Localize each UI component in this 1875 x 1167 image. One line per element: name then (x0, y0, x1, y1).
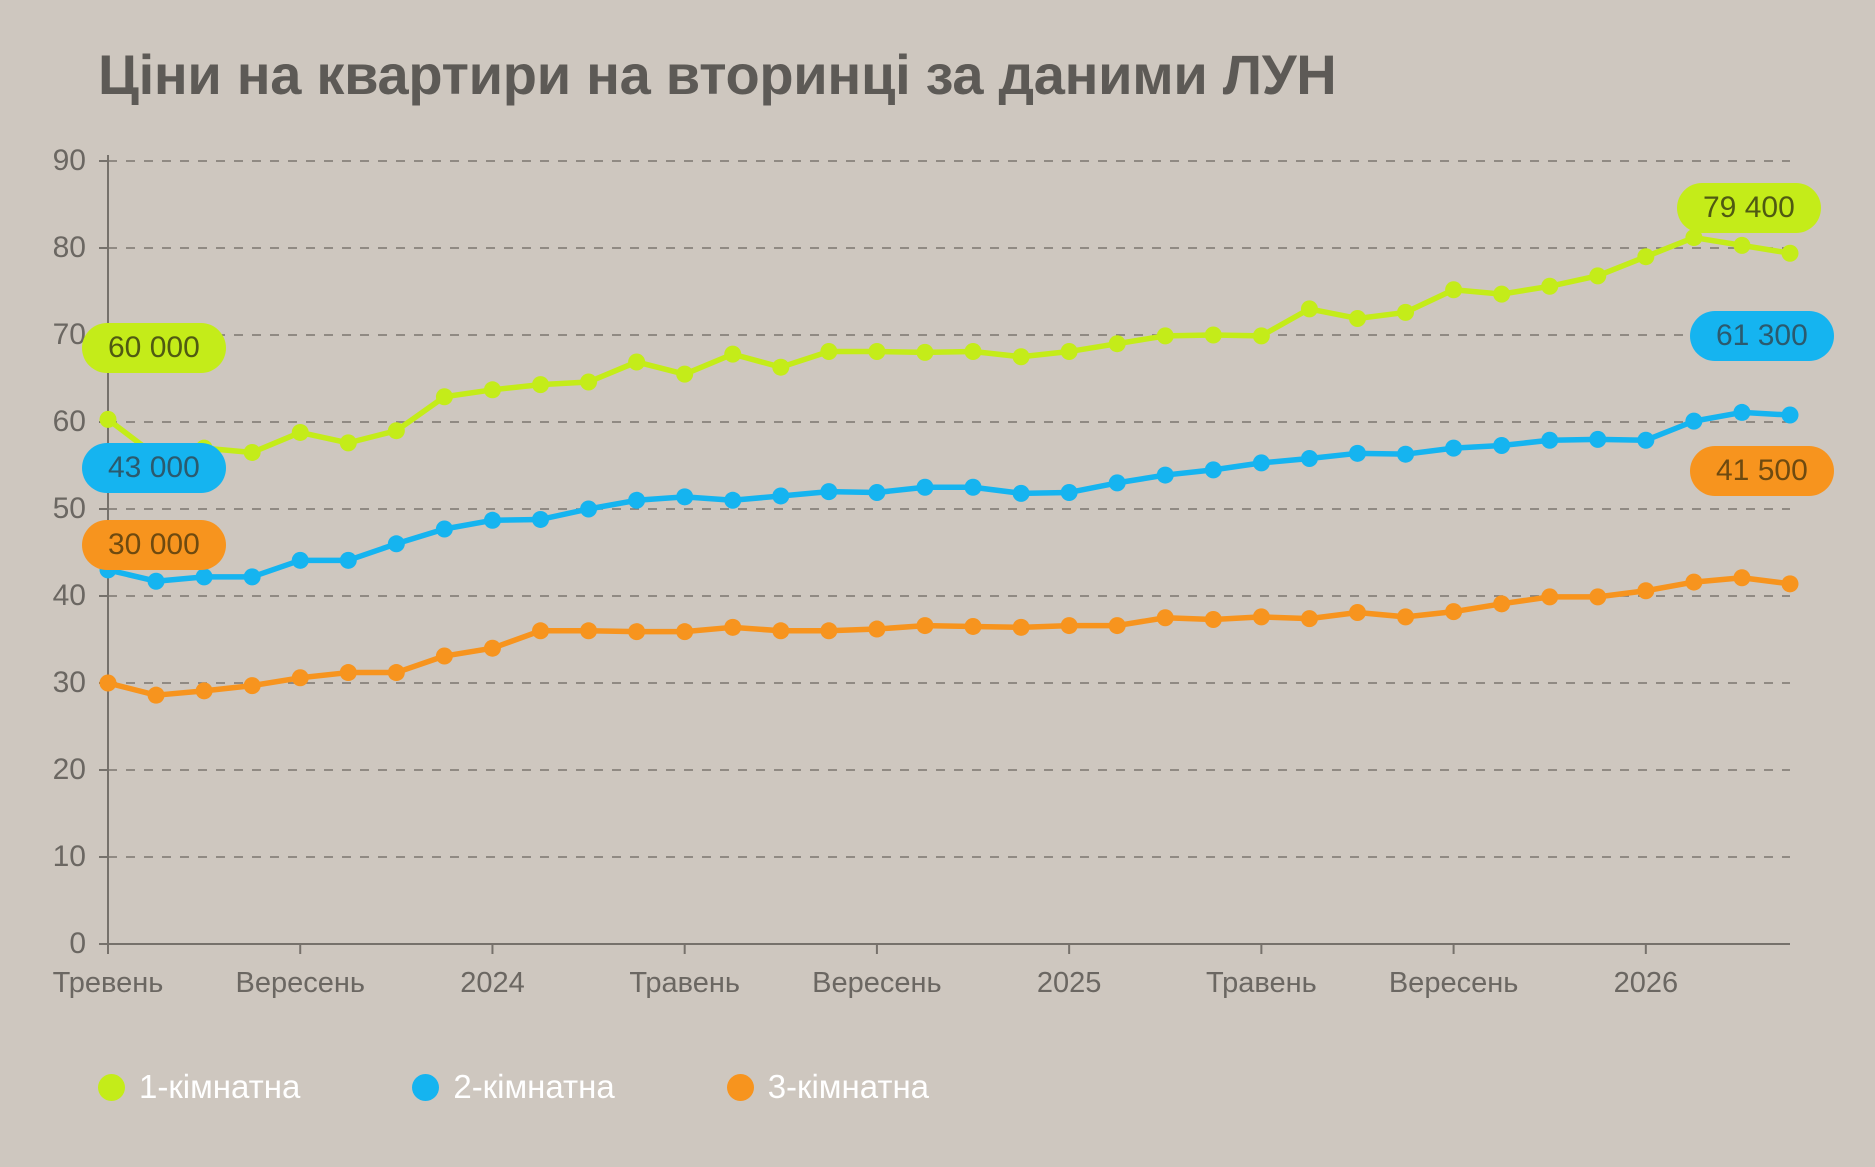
data-point[interactable] (820, 343, 837, 360)
x-axis-tick-label: Вересень (235, 967, 364, 999)
data-point[interactable] (1397, 608, 1414, 625)
data-point[interactable] (1685, 413, 1702, 430)
data-point[interactable] (436, 521, 453, 538)
x-axis-tick-label: 2025 (1037, 967, 1102, 999)
data-point[interactable] (1349, 310, 1366, 327)
data-point[interactable] (1493, 286, 1510, 303)
data-point[interactable] (868, 343, 885, 360)
value-label-badge: 30 000 (82, 520, 226, 570)
data-point[interactable] (1253, 454, 1270, 471)
data-point[interactable] (1733, 404, 1750, 421)
value-label-badge: 43 000 (82, 443, 226, 493)
plot-area: 0102030405060708090ТревеньВересень2024Тр… (0, 0, 1875, 1167)
data-point[interactable] (916, 617, 933, 634)
data-point[interactable] (1589, 431, 1606, 448)
data-point[interactable] (1733, 237, 1750, 254)
data-point[interactable] (724, 619, 741, 636)
series-line-1-кімнатна (108, 238, 1790, 456)
legend-item-label: 3-кімнатна (768, 1068, 929, 1106)
legend-dot-icon (412, 1074, 439, 1101)
data-point[interactable] (1349, 445, 1366, 462)
data-point[interactable] (820, 622, 837, 639)
data-point[interactable] (148, 573, 165, 590)
y-axis-tick-label: 70 (53, 318, 86, 351)
x-axis-tick-label: 2026 (1614, 967, 1679, 999)
value-label-badge: 61 300 (1690, 311, 1834, 361)
data-point[interactable] (965, 343, 982, 360)
data-point[interactable] (292, 552, 309, 569)
data-point[interactable] (1397, 304, 1414, 321)
data-point[interactable] (1157, 609, 1174, 626)
data-point[interactable] (772, 487, 789, 504)
data-point[interactable] (868, 484, 885, 501)
data-point[interactable] (820, 483, 837, 500)
data-point[interactable] (100, 411, 117, 428)
data-point[interactable] (676, 488, 693, 505)
data-point[interactable] (436, 648, 453, 665)
legend-item-label: 1-кімнатна (139, 1068, 300, 1106)
data-point[interactable] (484, 640, 501, 657)
chart-page: Ціни на квартири на вторинці за даними Л… (0, 0, 1875, 1167)
value-label-badge: 79 400 (1677, 183, 1821, 233)
data-point[interactable] (388, 535, 405, 552)
chart-legend: 1-кімнатна2-кімнатна3-кімнатна (98, 1068, 1041, 1106)
data-point[interactable] (1782, 245, 1799, 262)
y-axis-tick-label: 10 (53, 840, 86, 873)
data-point[interactable] (388, 422, 405, 439)
data-point[interactable] (724, 492, 741, 509)
data-point[interactable] (148, 687, 165, 704)
data-point[interactable] (1061, 343, 1078, 360)
data-point[interactable] (1205, 611, 1222, 628)
data-point[interactable] (1637, 248, 1654, 265)
data-point[interactable] (1685, 574, 1702, 591)
data-point[interactable] (1301, 610, 1318, 627)
data-point[interactable] (1013, 348, 1030, 365)
data-point[interactable] (436, 388, 453, 405)
data-point[interactable] (1109, 335, 1126, 352)
data-point[interactable] (676, 623, 693, 640)
data-point[interactable] (340, 664, 357, 681)
data-point[interactable] (1061, 617, 1078, 634)
data-point[interactable] (1637, 432, 1654, 449)
x-axis-tick-label: Вересень (812, 967, 941, 999)
legend-dot-icon (98, 1074, 125, 1101)
data-point[interactable] (292, 669, 309, 686)
data-point[interactable] (1782, 407, 1799, 424)
data-point[interactable] (1301, 450, 1318, 467)
data-point[interactable] (1109, 474, 1126, 491)
legend-dot-icon (727, 1074, 754, 1101)
data-point[interactable] (916, 479, 933, 496)
data-point[interactable] (244, 444, 261, 461)
y-axis-tick-label: 20 (53, 753, 86, 786)
data-point[interactable] (1205, 327, 1222, 344)
y-axis-tick-label: 40 (53, 579, 86, 612)
y-axis-tick-label: 0 (69, 927, 86, 960)
data-point[interactable] (1493, 437, 1510, 454)
data-point[interactable] (628, 492, 645, 509)
y-axis-tick-label: 30 (53, 666, 86, 699)
x-axis-tick-label: Вересень (1389, 967, 1518, 999)
data-point[interactable] (1301, 300, 1318, 317)
data-point[interactable] (484, 512, 501, 529)
data-point[interactable] (1541, 432, 1558, 449)
value-label-badge: 41 500 (1690, 446, 1834, 496)
data-point[interactable] (965, 479, 982, 496)
x-axis-tick-label: Травень (1206, 967, 1317, 999)
data-point[interactable] (1253, 327, 1270, 344)
data-point[interactable] (1541, 278, 1558, 295)
data-point[interactable] (340, 552, 357, 569)
data-point[interactable] (676, 366, 693, 383)
data-point[interactable] (388, 664, 405, 681)
data-point[interactable] (1349, 604, 1366, 621)
data-point[interactable] (724, 346, 741, 363)
y-axis-tick-label: 80 (53, 231, 86, 264)
data-point[interactable] (772, 622, 789, 639)
x-axis-tick-label: Тревень (53, 967, 164, 999)
x-axis-tick-label: Травень (629, 967, 740, 999)
data-point[interactable] (1445, 603, 1462, 620)
data-point[interactable] (868, 621, 885, 638)
x-axis-tick-label: 2024 (460, 967, 525, 999)
data-point[interactable] (1493, 595, 1510, 612)
y-axis-tick-label: 50 (53, 492, 86, 525)
data-point[interactable] (580, 622, 597, 639)
data-point[interactable] (580, 501, 597, 518)
y-axis-tick-label: 60 (53, 405, 86, 438)
data-point[interactable] (1733, 569, 1750, 586)
data-point[interactable] (1637, 582, 1654, 599)
data-point[interactable] (628, 623, 645, 640)
data-point[interactable] (532, 622, 549, 639)
data-point[interactable] (772, 359, 789, 376)
data-point[interactable] (196, 682, 213, 699)
data-point[interactable] (580, 373, 597, 390)
data-point[interactable] (100, 675, 117, 692)
y-axis-tick-label: 90 (53, 144, 86, 177)
data-point[interactable] (532, 511, 549, 528)
data-point[interactable] (1541, 588, 1558, 605)
data-point[interactable] (1013, 619, 1030, 636)
line-chart-svg: 0102030405060708090ТревеньВересень2024Тр… (0, 0, 1875, 1167)
data-point[interactable] (1397, 446, 1414, 463)
legend-item-label: 2-кімнатна (453, 1068, 614, 1106)
data-point[interactable] (340, 434, 357, 451)
data-point[interactable] (1157, 327, 1174, 344)
data-point[interactable] (1109, 617, 1126, 634)
data-point[interactable] (244, 677, 261, 694)
data-point[interactable] (244, 568, 261, 585)
data-point[interactable] (1589, 267, 1606, 284)
data-point[interactable] (916, 344, 933, 361)
data-point[interactable] (1013, 485, 1030, 502)
data-point[interactable] (1253, 608, 1270, 625)
data-point[interactable] (196, 568, 213, 585)
data-point[interactable] (292, 424, 309, 441)
data-point[interactable] (1061, 484, 1078, 501)
data-point[interactable] (1205, 461, 1222, 478)
data-point[interactable] (965, 618, 982, 635)
data-point[interactable] (1782, 575, 1799, 592)
legend-item[interactable]: 3-кімнатна (727, 1068, 929, 1106)
data-point[interactable] (1445, 440, 1462, 457)
data-point[interactable] (532, 376, 549, 393)
data-point[interactable] (628, 353, 645, 370)
value-label-badge: 60 000 (82, 323, 226, 373)
data-point[interactable] (484, 381, 501, 398)
data-point[interactable] (1589, 588, 1606, 605)
legend-item[interactable]: 2-кімнатна (412, 1068, 614, 1106)
data-point[interactable] (1157, 467, 1174, 484)
data-point[interactable] (1445, 281, 1462, 298)
legend-item[interactable]: 1-кімнатна (98, 1068, 300, 1106)
